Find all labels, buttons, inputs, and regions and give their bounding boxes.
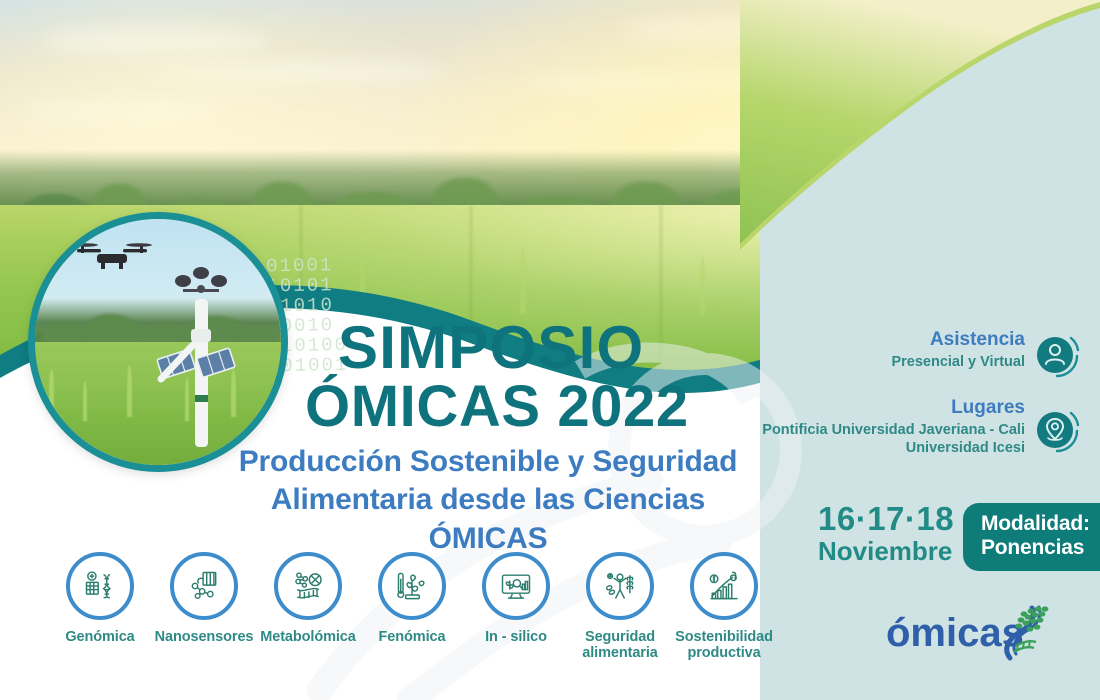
panel-photo-mask [740,0,1100,320]
topic-list: Genómica Nan [52,552,772,682]
modality-value: Ponencias [981,536,1100,560]
topic-sostenibilidad-productiva[interactable]: Sostenibilidad productiva [676,552,772,661]
topic-icon-circle [274,552,342,620]
topic-icon-circle [66,552,134,620]
location-pin-icon [1031,405,1083,457]
metabolomics-dna-icon [290,568,326,604]
topic-icon-circle [170,552,238,620]
topic-fenomica[interactable]: Fenómica [364,552,460,645]
topic-icon-circle [378,552,446,620]
tagline-line2: Alimentaria desde las Ciencias ÓMICAS [228,481,748,558]
dna-genomics-icon [82,568,118,604]
venue-line1: Pontificia Universidad Javeriana - Cali [760,421,1025,440]
page-title-line1: SIMPOSIO [338,318,644,378]
omicas-logo: ómicas [884,600,1064,666]
venues-heading: Lugares [760,398,1025,419]
drone-icon [71,241,153,275]
venues-block: Lugares Pontificia Universidad Javeriana… [760,398,1025,458]
tagline-line1: Producción Sostenible y Seguridad [228,443,748,481]
topic-icon-circle [690,552,758,620]
topic-icon-circle [482,552,550,620]
topic-in-silico[interactable]: In - silico [468,552,564,645]
attendance-detail: Presencial y Virtual [795,353,1025,372]
topic-label: Genómica [65,629,134,645]
omicas-logo-text: ómicas [886,611,1024,655]
tagline: Producción Sostenible y Seguridad Alimen… [228,443,748,558]
topic-label: In - silico [485,629,547,645]
event-days: 16·17·18 [818,502,954,535]
computer-screen-icon [498,568,534,604]
attendance-block: Asistencia Presencial y Virtual [795,330,1025,371]
weather-station-icon [153,267,249,447]
phenomics-plant-icon [394,568,430,604]
topic-label: Metabolómica [260,629,356,645]
topic-nanosensores[interactable]: Nanosensores [156,552,252,645]
venues-detail: Pontificia Universidad Javeriana - Cali … [760,421,1025,458]
topic-label: Fenómica [379,629,446,645]
attendance-heading: Asistencia [795,330,1025,351]
event-poster: 01001 10101 01010 10010 010100 101001 [0,0,1100,700]
event-month: Noviembre [818,537,954,566]
food-security-person-icon [602,568,638,604]
drone-field-photo-inset [28,212,288,472]
modality-label: Modalidad: [981,512,1100,536]
modality-badge: Modalidad: Ponencias [963,503,1100,571]
topic-label: Sostenibilidad productiva [675,629,773,661]
venue-line2: Universidad Icesi [760,439,1025,458]
topic-genomica[interactable]: Genómica [52,552,148,645]
topic-metabolomica[interactable]: Metabolómica [260,552,356,645]
topic-seguridad-alimentaria[interactable]: Seguridad alimentaria [572,552,668,661]
sustainability-growth-icon [706,568,742,604]
topic-label: Nanosensores [155,629,254,645]
nanosensor-molecule-icon [186,568,222,604]
page-title-line2: ÓMICAS 2022 [305,378,689,436]
event-dates: 16·17·18 Noviembre [818,502,954,566]
person-icon [1031,330,1083,382]
topic-label: Seguridad alimentaria [582,629,657,661]
topic-icon-circle [586,552,654,620]
